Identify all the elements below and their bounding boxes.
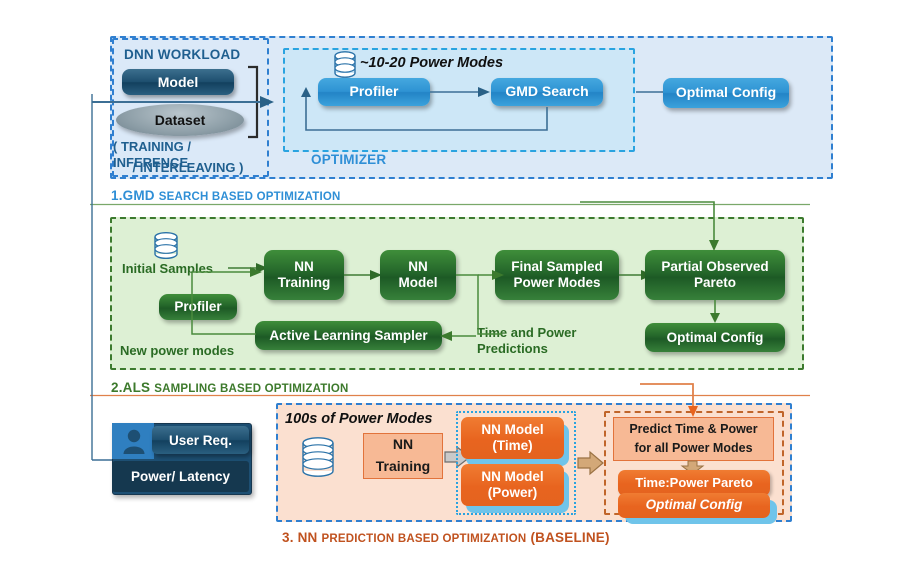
partial-observed-box[interactable]: Partial Observed Pareto [645, 250, 785, 300]
optimal-config-box-1-label: Optimal Config [676, 85, 776, 100]
nn-model-box-2[interactable]: NN Model [380, 250, 456, 300]
database-icon-2 [154, 232, 178, 260]
final-sampled-box-label: Final Sampled Power Modes [511, 259, 603, 291]
section3-caption-suffix: (BASELINE) [530, 530, 609, 545]
nn-training-to-model-arrow [344, 268, 384, 282]
user-req-label: User Req. [169, 433, 232, 448]
user-avatar-icon [122, 427, 146, 455]
active-learning-sampler-box[interactable]: Active Learning Sampler [255, 321, 442, 350]
gmd-feedback-loop-arrow [300, 85, 554, 137]
dataset-label: Dataset [155, 112, 206, 128]
database-stack-icon [301, 437, 335, 479]
model-box[interactable]: Model [122, 69, 234, 95]
left-input-rail [88, 94, 96, 464]
model-box-label: Model [158, 74, 198, 90]
nn-training-box-3-label: NN Training [376, 434, 430, 477]
nn-training-box-3[interactable]: NN Training [363, 433, 443, 479]
section3-caption-mid: PREDICTION BASED OPTIMIZATION [322, 533, 527, 545]
user-req-box[interactable]: User Req. [152, 426, 249, 454]
workload-to-optimizer-arrow [92, 95, 282, 109]
partial-observed-box-label: Partial Observed Pareto [661, 259, 768, 291]
section3-caption: 3. NNPREDICTION BASED OPTIMIZATION(BASEL… [282, 529, 610, 547]
dnn-workload-title: DNN WORKLOAD [124, 46, 240, 64]
diagram-canvas: DNN WORKLOAD Model Dataset ( TRAINING / … [0, 0, 905, 564]
nn-model-time-box[interactable]: NN Model (Time) [461, 417, 564, 459]
final-sampled-box[interactable]: Final Sampled Power Modes [495, 250, 619, 300]
optimizer-label: OPTIMIZER [311, 151, 386, 169]
power-latency-label: Power/ Latency [131, 469, 230, 484]
optimal-config-box-1[interactable]: Optimal Config [663, 78, 789, 108]
section1-to-section2-connector [580, 196, 730, 254]
active-learning-sampler-label: Active Learning Sampler [269, 328, 427, 344]
nn-model-power-label: NN Model (Power) [481, 469, 543, 501]
optimal-config-label-3: Optimal Config [646, 497, 743, 513]
optimizer-label-text: OPTIMIZER [311, 152, 386, 167]
nn-training-box-2[interactable]: NN Training [264, 250, 344, 300]
predict-time-power-box[interactable]: Predict Time & Power for all Power Modes [613, 417, 774, 461]
power-modes-note: ~10-20 Power Modes [360, 55, 503, 71]
als-to-profiler-loop [186, 264, 266, 342]
predict-time-power-label: Predict Time & Power for all Power Modes [629, 420, 757, 459]
optimal-config-box-2[interactable]: Optimal Config [645, 323, 785, 352]
nn-model-power-box[interactable]: NN Model (Power) [461, 464, 564, 506]
database-icon [334, 51, 356, 79]
predictions-to-als-arrow [440, 329, 476, 343]
optimal-config-box-3[interactable]: Optimal Config [618, 493, 770, 518]
dnn-workload-title-text: DNN WORKLOAD [124, 47, 240, 62]
new-power-modes-label: New power modes [120, 343, 234, 359]
optimal-config-box-2-label: Optimal Config [667, 330, 764, 346]
nn-model-box-2-label: NN Model [399, 259, 438, 291]
pareto-to-optimal-arrow [708, 300, 722, 324]
workload-modes-line2: / INTERLEAVING ) [113, 160, 263, 176]
section3-caption-prefix: 3. NN [282, 530, 318, 545]
power-latency-box[interactable]: Power/ Latency [112, 461, 249, 492]
time-power-pareto-label: Time:Power Pareto [635, 475, 753, 491]
models-to-predict-block-arrow [578, 451, 604, 475]
nn-model-time-label: NN Model (Time) [481, 422, 543, 454]
section1-caption-rest: SEARCH BASED OPTIMIZATION [159, 191, 341, 203]
nn-training-box-2-label: NN Training [278, 259, 331, 291]
section1-caption-prefix: 1.GMD [111, 188, 155, 203]
section2-to-section3-connector [640, 379, 710, 419]
power-modes-note-3: 100s of Power Modes [285, 411, 432, 427]
section2-caption-prefix: 2.ALS [111, 380, 150, 395]
